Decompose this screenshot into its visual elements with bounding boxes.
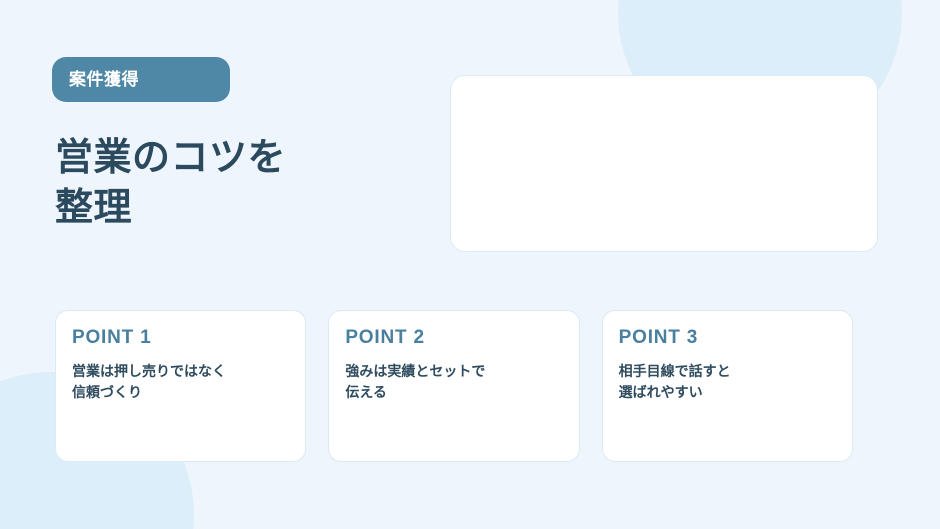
page-title: 営業のコツを 整理 — [55, 133, 415, 233]
category-badge-label: 案件獲得 — [52, 71, 139, 88]
hero-content-panel — [450, 75, 878, 252]
point-card-3-label: POINT 3 — [619, 328, 836, 347]
category-badge: 案件獲得 — [52, 57, 230, 102]
point-card-2: POINT 2 強みは実績とセットで 伝える — [328, 310, 579, 462]
point-card-3: POINT 3 相手目線で話すと 選ばれやすい — [602, 310, 853, 462]
point-card-1: POINT 1 営業は押し売りではなく 信頼づくり — [55, 310, 306, 462]
point-card-3-body: 相手目線で話すと 選ばれやすい — [619, 361, 836, 404]
point-card-list: POINT 1 営業は押し売りではなく 信頼づくり POINT 2 強みは実績と… — [55, 310, 853, 462]
point-card-2-label: POINT 2 — [345, 328, 562, 347]
point-card-1-body: 営業は押し売りではなく 信頼づくり — [72, 361, 289, 404]
point-card-2-body: 強みは実績とセットで 伝える — [345, 361, 562, 404]
slide-canvas: 案件獲得 営業のコツを 整理 POINT 1 営業は押し売りではなく 信頼づくり… — [0, 0, 940, 529]
point-card-1-label: POINT 1 — [72, 328, 289, 347]
